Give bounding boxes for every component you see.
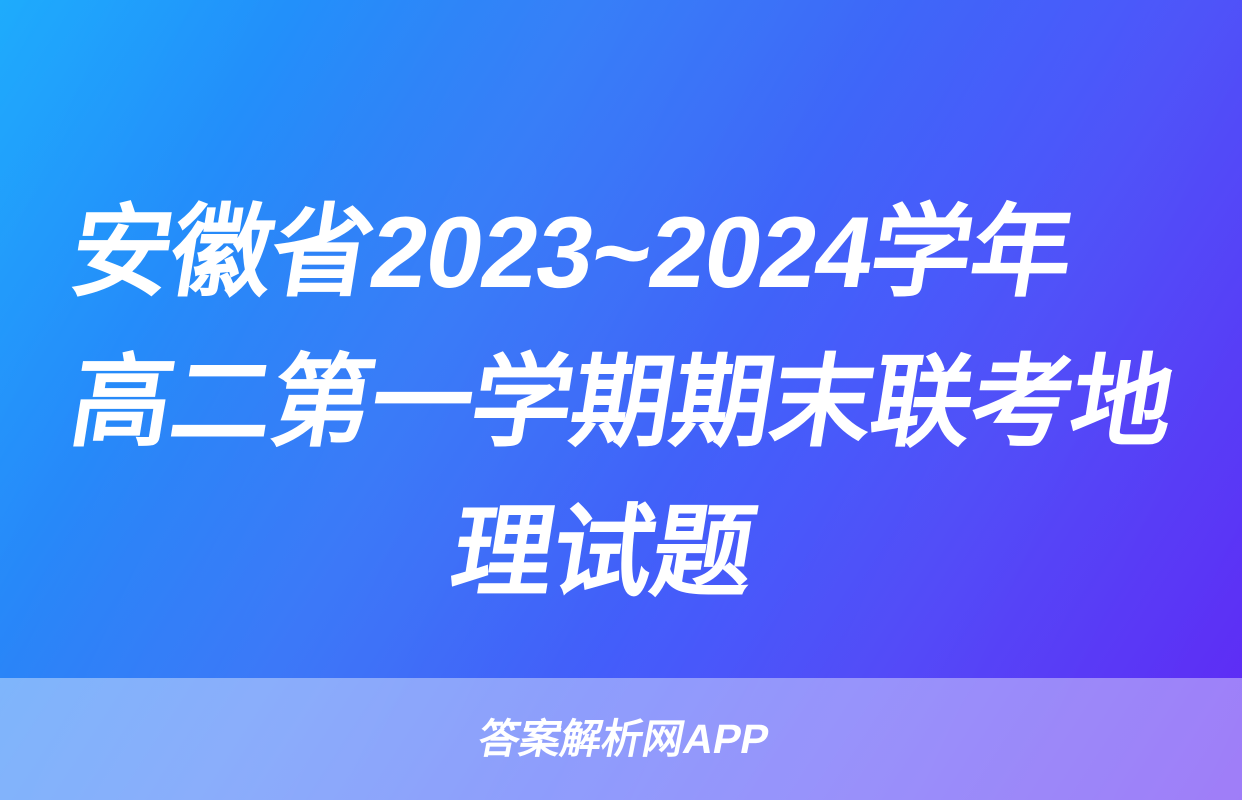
footer-watermark-band: 答案解析网APP [0, 678, 1242, 800]
title-card: 安徽省2023~2024学年 高二第一学期期末联考地 理试题 答案解析网APP [0, 0, 1242, 800]
title-line-2: 高二第一学期期末联考地 [60, 328, 1182, 478]
page-title: 安徽省2023~2024学年 高二第一学期期末联考地 理试题 [0, 178, 1242, 628]
app-watermark-label: 答案解析网APP [469, 719, 772, 760]
title-line-3: 理试题 [60, 478, 1182, 628]
title-line-1: 安徽省2023~2024学年 [60, 178, 1182, 328]
